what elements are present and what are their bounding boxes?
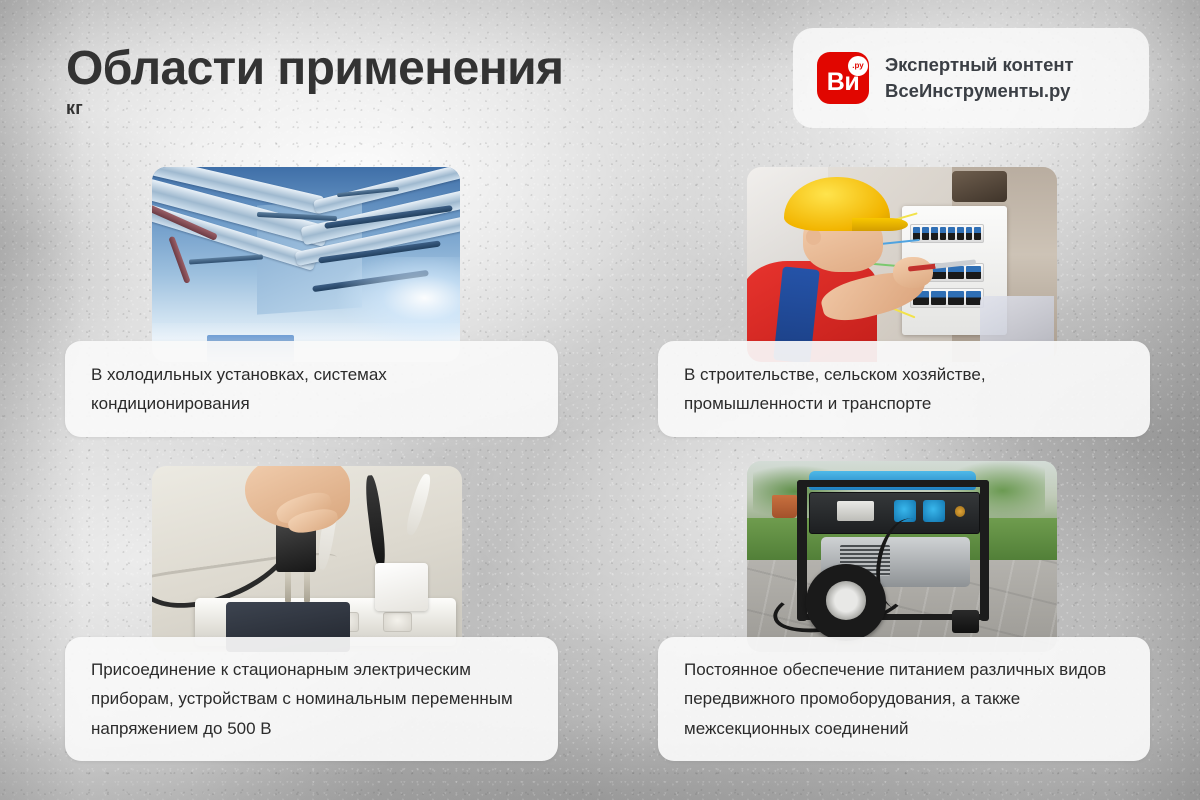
black-cord — [363, 475, 387, 569]
hvac-ducts-illustration — [152, 167, 460, 362]
ceiling-beam — [189, 254, 263, 264]
flower-pot — [772, 495, 797, 518]
hard-hat-brim — [852, 218, 908, 232]
page-title-block: Области применения кг — [66, 44, 563, 119]
electrician-panel-photo — [747, 167, 1057, 362]
plug-prong — [285, 568, 291, 601]
voltmeter-gauge — [837, 501, 874, 520]
card-text: В строительстве, сельском хозяйстве, про… — [684, 360, 1124, 418]
application-card-construction: В строительстве, сельском хозяйстве, про… — [658, 341, 1150, 437]
white-charger — [375, 563, 428, 611]
power-socket — [923, 500, 945, 522]
application-card-refrigeration: В холодильных установках, системах конди… — [65, 341, 558, 437]
application-card-appliances: Присоединение к стационарным электрическ… — [65, 637, 558, 761]
brand-badge-text: Экспертный контент ВсеИнструменты.ру — [885, 53, 1074, 102]
breaker-row — [910, 224, 984, 243]
wall-opening — [952, 171, 1008, 202]
frame-bar — [797, 480, 989, 486]
white-cord — [404, 473, 434, 537]
portable-generator-photo — [747, 461, 1057, 652]
logo-tld-bubble: .ру — [848, 56, 868, 76]
power-strip-illustration — [152, 466, 462, 652]
card-text: В холодильных установках, системах конди… — [91, 360, 532, 418]
brand-badge: Ви .ру Экспертный контент ВсеИнструменты… — [793, 28, 1149, 128]
plug-prong — [304, 568, 310, 601]
support-foot — [952, 610, 980, 633]
logo-tld-label: .ру — [852, 62, 863, 70]
hvac-ducts-photo — [152, 167, 460, 362]
brand-badge-line-2: ВсеИнструменты.ру — [885, 79, 1074, 103]
generator-illustration — [747, 461, 1057, 652]
power-strip-plug-photo — [152, 466, 462, 652]
electrician-illustration — [747, 167, 1057, 362]
card-text: Присоединение к стационарным электрическ… — [91, 655, 532, 743]
worker-hand — [893, 257, 933, 288]
frame-bar — [980, 480, 990, 621]
application-card-mobile-equipment: Постоянное обеспечение питанием различны… — [658, 637, 1150, 761]
page-subtitle: кг — [66, 98, 563, 119]
socket — [383, 612, 412, 632]
light-glare — [337, 257, 460, 347]
vseinstrumenty-logo-icon: Ви .ру — [817, 52, 869, 104]
brand-badge-line-1: Экспертный контент — [885, 53, 1074, 77]
page-title: Области применения — [66, 44, 563, 94]
wheel-hub — [826, 581, 866, 619]
control-knob — [955, 506, 965, 516]
slide-canvas: Области применения кг Ви .ру Экспертный … — [0, 0, 1200, 800]
red-pipe-segment — [169, 235, 191, 283]
card-text: Постоянное обеспечение питанием различны… — [684, 655, 1124, 743]
